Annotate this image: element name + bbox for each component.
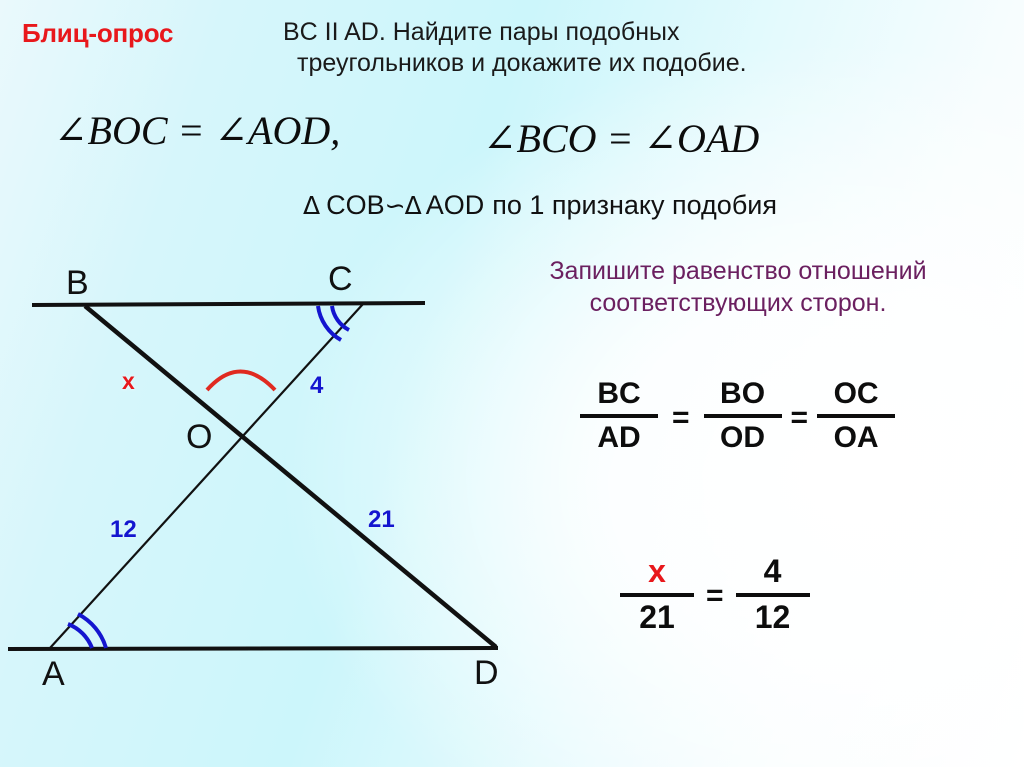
fraction-bc-ad: BC AD — [580, 378, 658, 453]
equals-sign-1: = — [672, 397, 690, 435]
fraction-oc-oa-bar — [817, 414, 895, 418]
fraction-bo-od-bar — [704, 414, 782, 418]
similar-to-symbol: ∽ — [385, 191, 405, 220]
fraction-bc-ad-denominator: AD — [593, 422, 644, 454]
vertex-label-c: C — [328, 260, 353, 299]
geometry-svg — [0, 250, 560, 710]
task-line-1: BC II AD. Найдите пары подобных — [283, 17, 753, 48]
task-statement: BC II AD. Найдите пары подобных треуголь… — [283, 17, 753, 79]
segment-bc-line — [32, 303, 425, 305]
fraction-4-12: 4 12 — [736, 555, 810, 634]
numeric-proportion: x 21 = 4 12 — [620, 555, 810, 634]
segment-ad-line — [8, 648, 498, 649]
equals-sign-numeric: = — [706, 577, 724, 613]
similarity-statement: ΔCOB∽ΔAODпо 1 признаку подобия — [303, 190, 777, 221]
fraction-bc-ad-bar — [580, 414, 658, 418]
fraction-x-21-numerator: x — [644, 555, 670, 589]
fraction-bc-ad-numerator: BC — [593, 378, 644, 410]
angle-equality-bco-oad: ∠BCO = ∠OAD — [483, 115, 759, 162]
segment-bd-diagonal — [85, 306, 496, 647]
fraction-4-12-numerator: 4 — [760, 555, 786, 589]
fraction-oc-oa: OC OA — [817, 378, 895, 453]
task-line-2: треугольников и докажите их подобие. — [283, 48, 753, 79]
segment-label-ao-12: 12 — [110, 516, 137, 544]
fraction-bo-od-denominator: OD — [716, 422, 769, 454]
fraction-bo-od: BO OD — [704, 378, 782, 453]
angle-arc-a-outer — [68, 624, 92, 648]
ratio-chain: BC AD = BO OD = OC OA — [580, 378, 895, 453]
fraction-4-12-bar — [736, 593, 810, 597]
similarity-reason: по 1 признаку подобия — [492, 190, 777, 220]
vertex-label-d: D — [474, 654, 499, 693]
segment-label-bo-x: x — [122, 368, 135, 395]
fraction-x-21-denominator: 21 — [635, 601, 679, 635]
fraction-x-21-bar — [620, 593, 694, 597]
angle-arc-vertical-top — [207, 372, 275, 391]
segment-label-oc-4: 4 — [310, 372, 323, 400]
fraction-4-12-denominator: 12 — [751, 601, 795, 635]
fraction-x-21: x 21 — [620, 555, 694, 634]
vertex-label-a: A — [42, 655, 65, 694]
segment-label-od-21: 21 — [368, 506, 395, 534]
equals-sign-2: = — [791, 397, 809, 435]
triangle-name-2: AOD — [426, 190, 485, 220]
fraction-oc-oa-denominator: OA — [830, 422, 883, 454]
triangle-name-1: COB — [326, 190, 385, 220]
angle-arc-c-inner — [332, 306, 349, 330]
quiz-title: Блиц-опрос — [22, 18, 173, 49]
fraction-oc-oa-numerator: OC — [830, 378, 883, 410]
fraction-bo-od-numerator: BO — [716, 378, 769, 410]
triangle-symbol-1: Δ — [303, 191, 320, 220]
triangle-symbol-2: Δ — [405, 191, 422, 220]
slide-canvas: Блиц-опрос BC II AD. Найдите пары подобн… — [0, 0, 1024, 767]
vertex-label-o: O — [186, 418, 212, 457]
segment-ac-diagonal — [50, 304, 363, 648]
geometry-figure: B C O A D x 4 12 21 — [0, 250, 560, 710]
vertex-label-b: B — [66, 264, 89, 303]
angle-equality-boc-aod: ∠BOC = ∠AOD, — [54, 107, 340, 154]
